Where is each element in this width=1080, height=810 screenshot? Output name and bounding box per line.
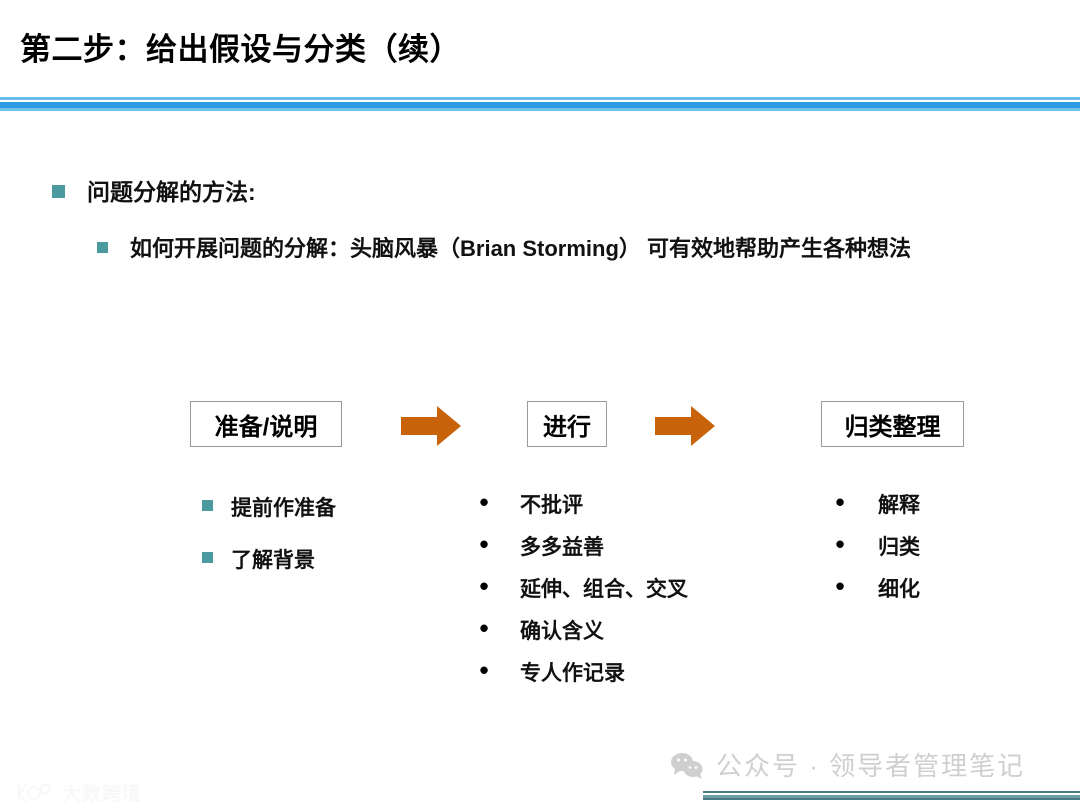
square-bullet-icon (97, 242, 108, 253)
bullet-level1: 问题分解的方法: (52, 178, 256, 208)
list-column-classify: • 解释 • 归类 • 细化 (832, 489, 920, 615)
list-item: • 专人作记录 (476, 657, 688, 687)
wechat-watermark-label: 公众号 · 领导者管理笔记 (716, 746, 1025, 783)
list-item-label: 确认含义 (520, 615, 604, 645)
list-item: • 多多益善 (476, 531, 688, 561)
arrow-right-icon (653, 403, 717, 449)
bullet-level1-label: 问题分解的方法: (87, 178, 256, 208)
dot-bullet-icon: • (476, 573, 492, 599)
square-bullet-icon (52, 185, 65, 198)
square-bullet-icon (202, 552, 213, 563)
bullet-level2: 如何开展问题的分解：头脑风暴（Brian Storming） 可有效地帮助产生各… (97, 233, 1037, 265)
process-box-classify: 归类整理 (821, 401, 964, 447)
dot-bullet-icon: • (476, 657, 492, 683)
list-item: • 解释 (832, 489, 920, 519)
page-title: 第二步：给出假设与分类（续） (20, 24, 461, 69)
list-item: 了解背景 (202, 544, 336, 574)
header-divider (0, 97, 1080, 111)
list-item: 提前作准备 (202, 492, 336, 522)
process-box-conduct: 进行 (527, 401, 607, 447)
list-item-label: 延伸、组合、交叉 (520, 573, 688, 603)
list-item: • 延伸、组合、交叉 (476, 573, 688, 603)
brand-logo-icon (16, 782, 54, 804)
square-bullet-icon (202, 500, 213, 511)
dot-bullet-icon: • (832, 531, 848, 557)
list-item-label: 细化 (878, 573, 920, 603)
wechat-icon (670, 751, 704, 779)
list-item-label: 多多益善 (520, 531, 604, 561)
footer-divider (703, 791, 1080, 800)
footer-divider-line-3 (703, 798, 1080, 800)
list-item: • 确认含义 (476, 615, 688, 645)
brand-logo-label: 大数跨境 (62, 779, 142, 806)
wechat-watermark: 公众号 · 领导者管理笔记 (670, 746, 1025, 783)
dot-bullet-icon: • (476, 489, 492, 515)
brand-logo: 大数跨境 (16, 779, 142, 806)
list-item-label: 不批评 (520, 489, 583, 519)
list-item-label: 归类 (878, 531, 920, 561)
arrow-right-icon (399, 403, 463, 449)
header-divider-line-bottom (0, 108, 1080, 111)
slide-canvas: 第二步：给出假设与分类（续） 问题分解的方法: 如何开展问题的分解：头脑风暴（B… (0, 0, 1080, 810)
list-column-prepare: 提前作准备 了解背景 (202, 492, 336, 596)
dot-bullet-icon: • (476, 531, 492, 557)
list-item-label: 提前作准备 (231, 492, 336, 522)
list-item: • 细化 (832, 573, 920, 603)
list-column-conduct: • 不批评 • 多多益善 • 延伸、组合、交叉 • 确认含义 • 专人作记录 (476, 489, 688, 699)
dot-bullet-icon: • (832, 489, 848, 515)
list-item-label: 专人作记录 (520, 657, 625, 687)
list-item-label: 解释 (878, 489, 920, 519)
dot-bullet-icon: • (476, 615, 492, 641)
list-item-label: 了解背景 (231, 544, 315, 574)
process-box-prepare: 准备/说明 (190, 401, 342, 447)
bullet-level2-label: 如何开展问题的分解：头脑风暴（Brian Storming） 可有效地帮助产生各… (130, 233, 911, 265)
dot-bullet-icon: • (832, 573, 848, 599)
list-item: • 不批评 (476, 489, 688, 519)
list-item: • 归类 (832, 531, 920, 561)
